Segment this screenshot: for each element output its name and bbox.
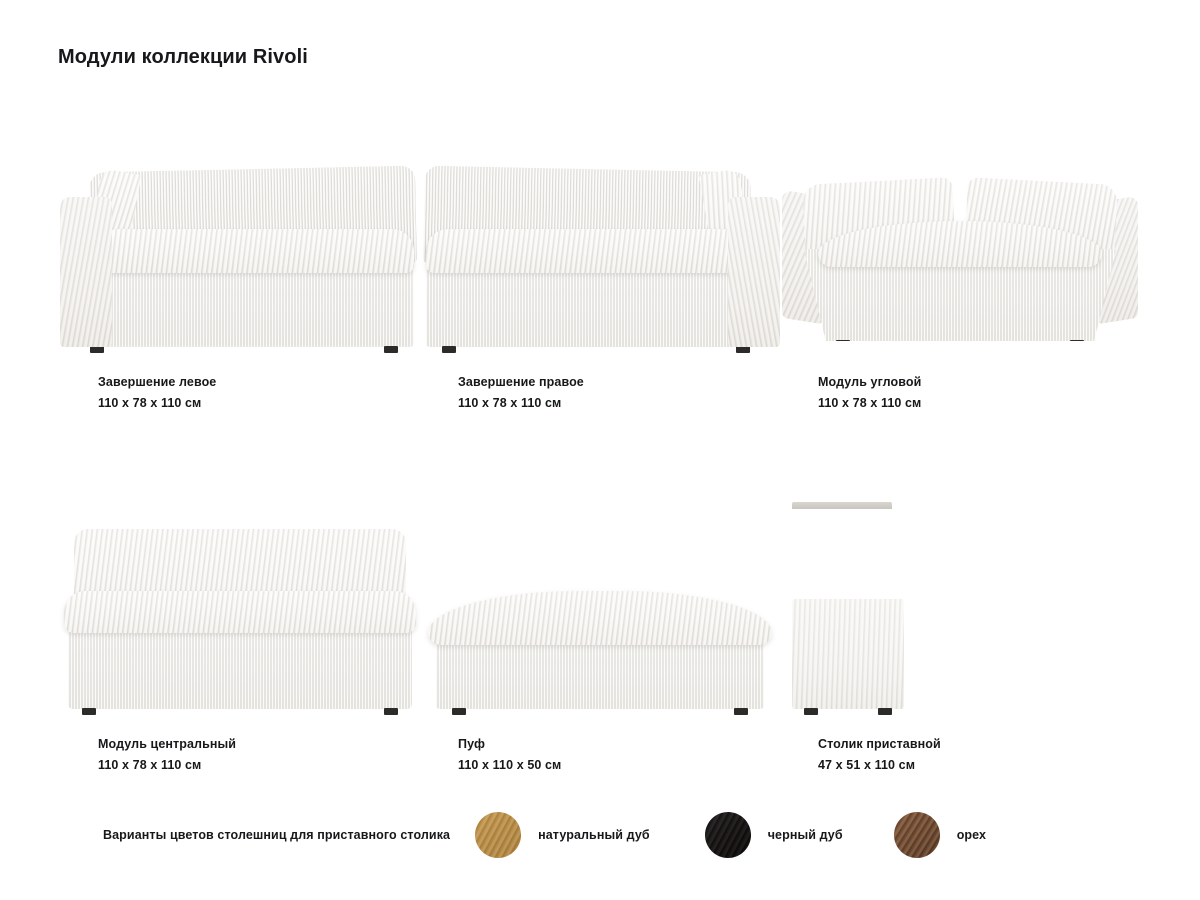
module-name: Модуль центральный bbox=[98, 737, 420, 751]
foot-left-icon bbox=[804, 708, 818, 715]
module-image-right-end bbox=[420, 140, 780, 355]
sofa-corner-module-icon bbox=[780, 140, 1140, 355]
foot-right-icon bbox=[384, 346, 398, 353]
module-name: Столик приставной bbox=[818, 737, 1140, 751]
module-name: Пуф bbox=[458, 737, 780, 751]
walnut-label: орех bbox=[957, 828, 986, 842]
swatch-option-black-oak[interactable]: черный дуб bbox=[705, 812, 843, 858]
armrest-right bbox=[728, 197, 780, 347]
module-card-center[interactable]: Модуль центральный 110 x 78 x 110 см bbox=[60, 502, 420, 772]
swatch-option-natural-oak[interactable]: натуральный дуб bbox=[475, 812, 650, 858]
module-image-corner bbox=[780, 140, 1140, 355]
module-caption-ottoman: Пуф 110 x 110 x 50 см bbox=[420, 737, 780, 772]
module-card-side-table[interactable]: Столик приставной 47 x 51 x 110 см bbox=[780, 502, 1140, 772]
natural-oak-swatch-icon[interactable] bbox=[475, 812, 521, 858]
module-name: Завершение левое bbox=[98, 375, 420, 389]
foot-right-icon bbox=[1070, 340, 1084, 347]
seat-cushion bbox=[426, 229, 742, 273]
module-dimensions: 110 x 78 x 110 см bbox=[458, 396, 780, 410]
natural-oak-label: натуральный дуб bbox=[538, 828, 650, 842]
armrest-left bbox=[60, 197, 112, 347]
module-dimensions: 110 x 78 x 110 см bbox=[98, 396, 420, 410]
module-image-center bbox=[60, 502, 420, 717]
side-table-icon bbox=[792, 502, 910, 717]
foot-left-icon bbox=[82, 708, 96, 715]
module-caption-corner: Модуль угловой 110 x 78 x 110 см bbox=[780, 375, 1140, 410]
table-top-surface bbox=[792, 502, 892, 509]
module-name: Модуль угловой bbox=[818, 375, 1140, 389]
foot-right-icon bbox=[734, 708, 748, 715]
foot-left-icon bbox=[836, 340, 850, 347]
walnut-swatch-icon[interactable] bbox=[894, 812, 940, 858]
sofa-armless-module-icon bbox=[60, 502, 420, 717]
module-dimensions: 47 x 51 x 110 см bbox=[818, 758, 1140, 772]
foot-right-icon bbox=[736, 346, 750, 353]
sofa-left-arm-module-icon bbox=[60, 140, 420, 355]
black-oak-label: черный дуб bbox=[768, 828, 843, 842]
module-image-left-end bbox=[60, 140, 420, 355]
module-row-2: Модуль центральный 110 x 78 x 110 см Пуф… bbox=[60, 502, 1140, 772]
module-dimensions: 110 x 78 x 110 см bbox=[98, 758, 420, 772]
table-body bbox=[792, 599, 904, 709]
module-card-corner[interactable]: Модуль угловой 110 x 78 x 110 см bbox=[780, 140, 1140, 410]
foot-left-icon bbox=[90, 346, 104, 353]
module-dimensions: 110 x 78 x 110 см bbox=[818, 396, 1140, 410]
module-dimensions: 110 x 110 x 50 см bbox=[458, 758, 780, 772]
module-caption-side-table: Столик приставной 47 x 51 x 110 см bbox=[780, 737, 1140, 772]
color-legend: Варианты цветов столешниц для приставног… bbox=[0, 812, 1200, 858]
module-grid: Завершение левое 110 x 78 x 110 см bbox=[0, 140, 1200, 772]
module-card-ottoman[interactable]: Пуф 110 x 110 x 50 см bbox=[420, 502, 780, 772]
sofa-right-arm-module-icon bbox=[420, 140, 780, 355]
swatch-option-walnut[interactable]: орех bbox=[894, 812, 986, 858]
foot-right-icon bbox=[878, 708, 892, 715]
module-card-left-end[interactable]: Завершение левое 110 x 78 x 110 см bbox=[60, 140, 420, 410]
foot-left-icon bbox=[442, 346, 456, 353]
module-row-1: Завершение левое 110 x 78 x 110 см bbox=[60, 140, 1140, 410]
module-name: Завершение правое bbox=[458, 375, 780, 389]
foot-left-icon bbox=[452, 708, 466, 715]
module-image-side-table bbox=[780, 502, 1140, 717]
seat-cushion bbox=[98, 229, 414, 273]
page-title: Модули коллекции Rivoli bbox=[58, 46, 308, 69]
module-image-ottoman bbox=[420, 502, 780, 717]
color-legend-label: Варианты цветов столешниц для приставног… bbox=[103, 828, 450, 842]
ottoman-icon bbox=[420, 502, 780, 717]
black-oak-swatch-icon[interactable] bbox=[705, 812, 751, 858]
module-caption-left-end: Завершение левое 110 x 78 x 110 см bbox=[60, 375, 420, 410]
module-caption-center: Модуль центральный 110 x 78 x 110 см bbox=[60, 737, 420, 772]
module-card-right-end[interactable]: Завершение правое 110 x 78 x 110 см bbox=[420, 140, 780, 410]
seat-cushion bbox=[64, 591, 416, 633]
ottoman-cushion bbox=[428, 591, 772, 645]
module-caption-right-end: Завершение правое 110 x 78 x 110 см bbox=[420, 375, 780, 410]
foot-right-icon bbox=[384, 708, 398, 715]
